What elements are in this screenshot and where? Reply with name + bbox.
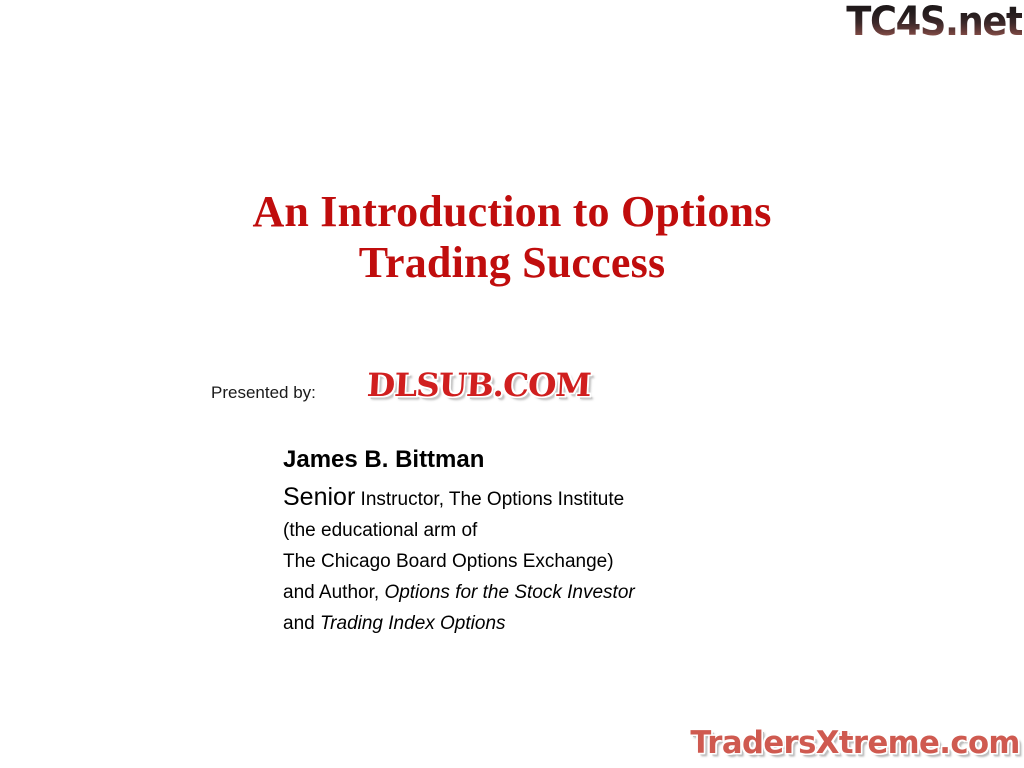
book-title-2: Trading Index Options <box>320 613 506 634</box>
speaker-affiliation-line-1: (the educational arm of <box>283 515 803 546</box>
speaker-info-block: James B. Bittman Senior Instructor, The … <box>283 443 803 639</box>
tc4s-net-logo: TC4S.net <box>846 1 1022 43</box>
title-line-2: Trading Success <box>0 237 1024 288</box>
title-line-1: An Introduction to Options <box>0 186 1024 237</box>
presented-by-label: Presented by: <box>211 383 316 403</box>
speaker-role-rest: Instructor, The Options Institute <box>361 489 625 510</box>
speaker-role-emphasis: Senior <box>283 483 355 511</box>
speaker-author-line-1: and Author, Options for the Stock Invest… <box>283 577 803 608</box>
speaker-author-line-2: and Trading Index Options <box>283 608 803 639</box>
speaker-name: James B. Bittman <box>283 443 803 476</box>
slide-canvas: TC4S.net An Introduction to Options Trad… <box>0 0 1024 768</box>
presented-by-row: Presented by: DLSUB.COM <box>211 366 731 410</box>
speaker-role-line: Senior Instructor, The Options Institute <box>283 482 803 515</box>
dlsub-com-watermark: DLSUB.COM <box>366 366 592 404</box>
page-title: An Introduction to Options Trading Succe… <box>0 186 1024 288</box>
author-prefix: and Author, <box>283 582 379 603</box>
and-conjunction: and <box>283 613 315 634</box>
book-title-1: Options for the Stock Investor <box>384 582 634 603</box>
speaker-affiliation-line-2: The Chicago Board Options Exchange) <box>283 546 803 577</box>
tradersxtreme-com-logo: TradersXtreme.com <box>691 724 1020 762</box>
